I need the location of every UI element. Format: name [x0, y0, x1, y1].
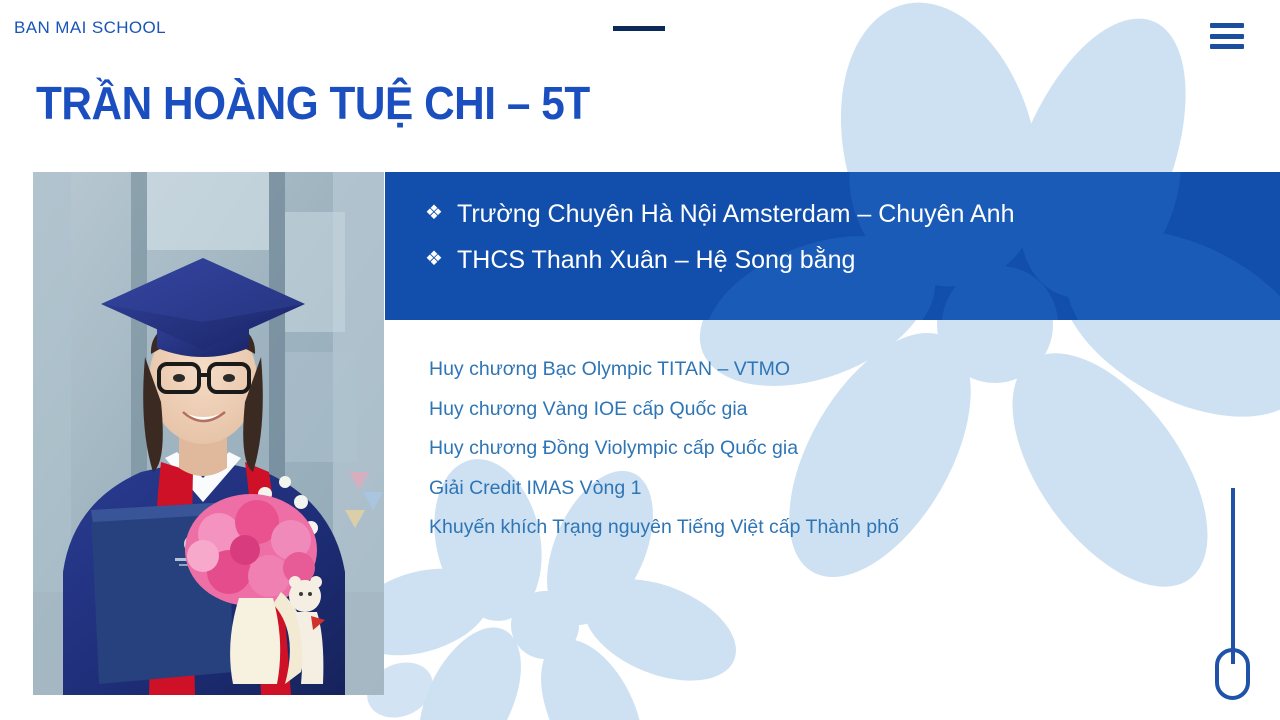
hamburger-bar-1: [1210, 23, 1244, 28]
diamond-bullet-icon: ❖: [425, 246, 447, 272]
qualification-banner: ❖ Trường Chuyên Hà Nội Amsterdam – Chuyê…: [385, 172, 1280, 320]
hamburger-bar-3: [1210, 44, 1244, 49]
achievement-item: Khuyến khích Trạng nguyên Tiếng Việt cấp…: [429, 508, 1229, 548]
achievement-item: Giải Credit IMAS Vòng 1: [429, 469, 1229, 509]
student-photo: [33, 172, 384, 695]
achievement-item: Huy chương Bạc Olympic TITAN – VTMO: [429, 350, 1229, 390]
banner-item: ❖ Trường Chuyên Hà Nội Amsterdam – Chuyê…: [425, 200, 1280, 230]
achievement-item: Huy chương Vàng IOE cấp Quốc gia: [429, 390, 1229, 430]
banner-item: ❖ THCS Thanh Xuân – Hệ Song bằng: [425, 246, 1280, 276]
slide-root: BAN MAI SCHOOL TRẦN HOÀNG TUỆ CHI – 5T: [0, 0, 1280, 720]
hamburger-bar-2: [1210, 34, 1244, 39]
diamond-bullet-icon: ❖: [425, 200, 447, 226]
brand-title: BAN MAI SCHOOL: [14, 18, 166, 38]
hamburger-menu-icon[interactable]: [1210, 23, 1244, 49]
page-title: TRẦN HOÀNG TUỆ CHI – 5T: [36, 78, 590, 129]
scroll-line: [1231, 488, 1235, 664]
achievement-item: Huy chương Đồng Violympic cấp Quốc gia: [429, 429, 1229, 469]
achievements-list: Huy chương Bạc Olympic TITAN – VTMO Huy …: [429, 350, 1229, 548]
banner-item-label: THCS Thanh Xuân – Hệ Song bằng: [457, 246, 855, 276]
top-divider-dash: [613, 26, 665, 31]
banner-item-label: Trường Chuyên Hà Nội Amsterdam – Chuyên …: [457, 200, 1014, 230]
student-photo-image: [33, 172, 384, 695]
mouse-body-outline: [1215, 648, 1250, 700]
scroll-mouse-icon[interactable]: [1212, 488, 1252, 708]
